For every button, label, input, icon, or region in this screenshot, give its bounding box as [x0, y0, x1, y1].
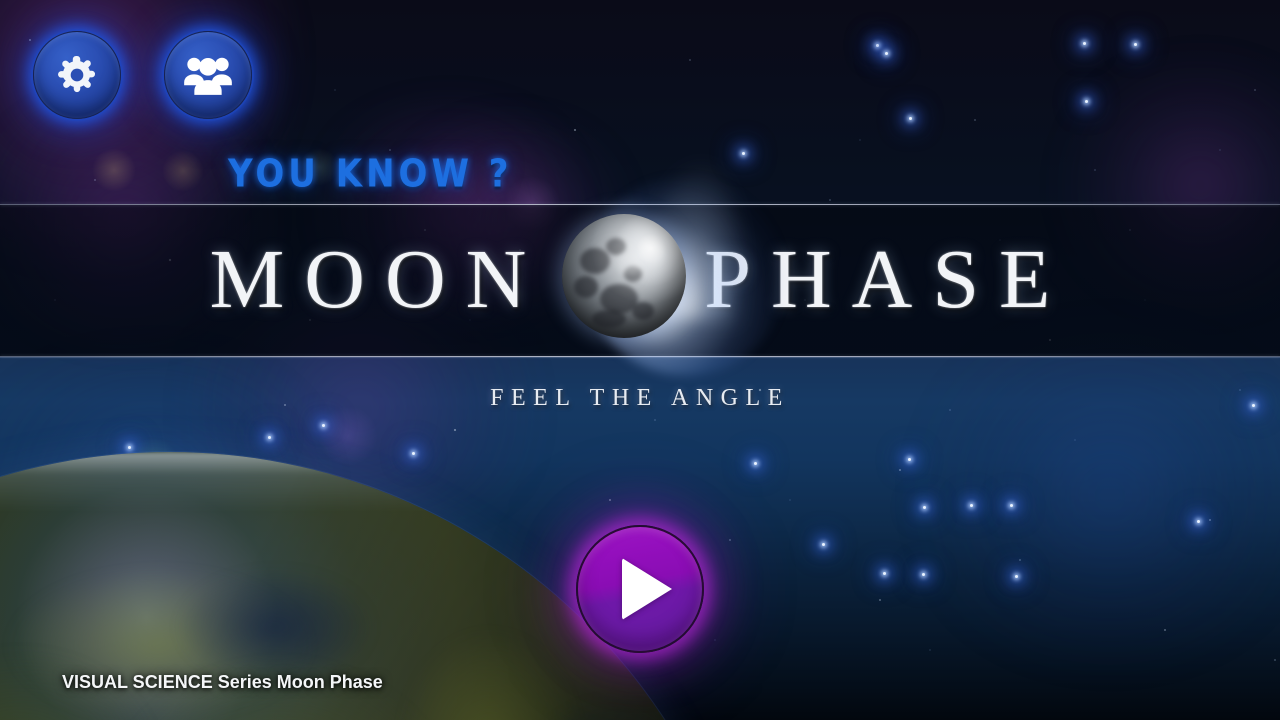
- bright-star: [1083, 42, 1086, 45]
- settings-button[interactable]: [33, 31, 121, 119]
- bright-star: [1134, 43, 1137, 46]
- bright-star: [885, 52, 888, 55]
- bright-star: [909, 117, 912, 120]
- play-button[interactable]: [576, 525, 704, 653]
- bright-star: [822, 543, 825, 546]
- bright-star: [1197, 520, 1200, 523]
- bright-star: [1010, 504, 1013, 507]
- bright-star: [970, 504, 973, 507]
- bright-star: [876, 44, 879, 47]
- bright-star: [883, 572, 886, 575]
- people-button[interactable]: [164, 31, 252, 119]
- footer-series-label: VISUAL SCIENCE Series Moon Phase: [62, 672, 383, 693]
- people-icon: [183, 53, 233, 97]
- bright-star: [268, 436, 271, 439]
- bright-star: [922, 573, 925, 576]
- bright-star: [128, 446, 131, 449]
- moon-phase-title-screen: YOU KNOW ? MOON PHASE FEEL THE ANGLE: [0, 0, 1280, 720]
- bright-star: [1085, 100, 1088, 103]
- bright-star: [322, 424, 325, 427]
- subtitle-feel-the-angle: FEEL THE ANGLE: [0, 385, 1280, 412]
- bright-star: [908, 458, 911, 461]
- bright-star: [1015, 575, 1018, 578]
- bright-star: [754, 462, 757, 465]
- tagline-you-know: YOU KNOW ?: [228, 152, 513, 197]
- bright-star: [412, 452, 415, 455]
- divider-line-top: [0, 204, 1280, 205]
- bright-star: [742, 152, 745, 155]
- divider-line-bottom: [0, 356, 1280, 357]
- play-icon: [622, 558, 672, 620]
- gear-icon: [54, 52, 100, 98]
- bright-star: [923, 506, 926, 509]
